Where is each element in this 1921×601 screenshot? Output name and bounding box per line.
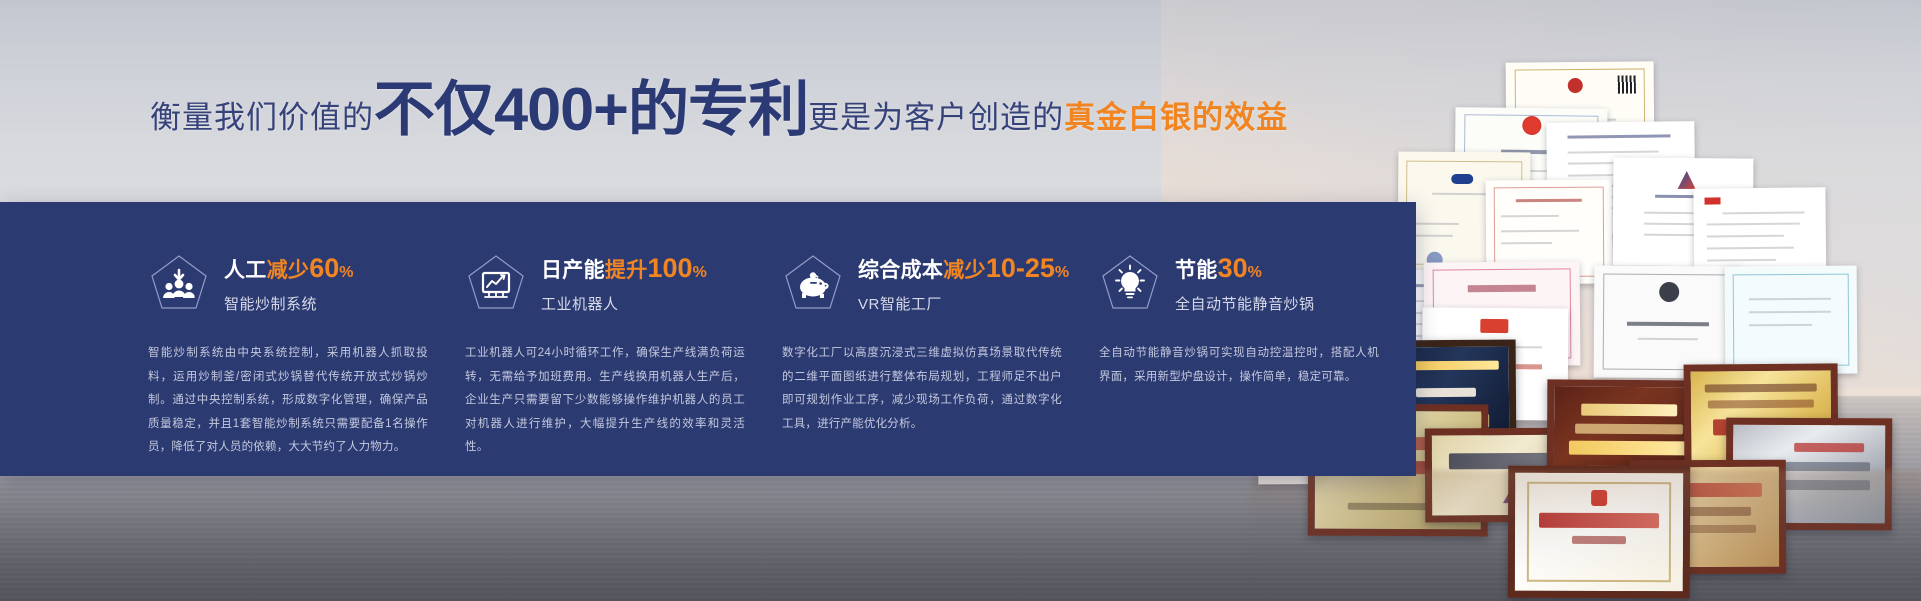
chart-monitor-icon — [465, 252, 527, 314]
feature-title-number: 100 — [648, 253, 693, 283]
feature-title: 节能30% — [1175, 252, 1315, 286]
feature-subtitle: 全自动节能静音炒锅 — [1175, 293, 1315, 314]
people-group-icon — [148, 252, 210, 314]
feature-body: 全自动节能静音炒锅可实现自动控温控时，搭配人机界面，采用新型炉盘设计，操作简单，… — [1099, 342, 1379, 389]
headline-emphasis: 不仅400+的专利 — [374, 80, 809, 140]
feature-title-unit: % — [693, 264, 708, 281]
certificate-card — [1725, 266, 1858, 375]
feature-title-number: 30 — [1218, 253, 1248, 283]
feature-title-unit: % — [339, 264, 354, 281]
feature-titles: 综合成本减少10-25% VR智能工厂 — [858, 252, 1069, 314]
features-row: 人工减少60% 智能炒制系统 智能炒制系统由中央系统控制，采用机器人抓取投料，运… — [0, 202, 1416, 476]
banner-stage: 衡量我们价值的 不仅400+的专利 更是为客户创造的 真金白银的效益 — [0, 0, 1921, 601]
feature-title-highlight: 减少 — [267, 259, 310, 282]
feature-card-cost-reduction: 综合成本减少10-25% VR智能工厂 数字化工厂以高度沉浸式三维虚拟仿真场景取… — [782, 202, 1099, 476]
feature-title-number: 60 — [309, 253, 339, 283]
feature-title-prefix: 节能 — [1175, 259, 1218, 282]
piggy-bank-icon — [782, 252, 844, 314]
feature-header: 日产能提升100% 工业机器人 — [465, 240, 782, 326]
feature-card-energy-saving: 节能30% 全自动节能静音炒锅 全自动节能静音炒锅可实现自动控温控时，搭配人机界… — [1099, 202, 1416, 476]
feature-body: 智能炒制系统由中央系统控制，采用机器人抓取投料，运用炒制釜/密闭式炒锅替代传统开… — [148, 342, 428, 460]
feature-title-highlight: 减少 — [943, 259, 986, 282]
feature-header: 综合成本减少10-25% VR智能工厂 — [782, 240, 1099, 326]
feature-subtitle: VR智能工厂 — [858, 293, 1069, 314]
feature-subtitle: 工业机器人 — [541, 293, 707, 314]
feature-subtitle: 智能炒制系统 — [224, 293, 354, 314]
feature-title-unit: % — [1248, 264, 1263, 281]
feature-title: 人工减少60% — [224, 252, 354, 286]
feature-title-number: 10-25 — [986, 253, 1055, 283]
feature-title: 日产能提升100% — [541, 252, 707, 286]
feature-title: 综合成本减少10-25% — [858, 252, 1069, 286]
certificate-card — [1594, 265, 1743, 378]
feature-card-capacity-increase: 日产能提升100% 工业机器人 工业机器人可24小时循环工作，确保生产线满负荷运… — [465, 202, 782, 476]
feature-header: 人工减少60% 智能炒制系统 — [148, 240, 465, 326]
headline-middle: 更是为客户创造的 — [808, 92, 1064, 137]
feature-titles: 人工减少60% 智能炒制系统 — [224, 252, 354, 314]
feature-title-highlight: 提升 — [605, 259, 648, 282]
feature-titles: 节能30% 全自动节能静音炒锅 — [1175, 252, 1315, 314]
lightbulb-icon — [1099, 252, 1161, 314]
features-panel: 人工减少60% 智能炒制系统 智能炒制系统由中央系统控制，采用机器人抓取投料，运… — [0, 202, 1416, 476]
feature-header: 节能30% 全自动节能静音炒锅 — [1099, 240, 1416, 326]
feature-title-prefix: 人工 — [224, 259, 267, 282]
feature-title-prefix: 日产能 — [541, 259, 605, 282]
page-title: 衡量我们价值的 不仅400+的专利 更是为客户创造的 真金白银的效益 — [150, 78, 1288, 140]
certificate-reflection — [1250, 470, 1921, 580]
feature-card-labor-reduction: 人工减少60% 智能炒制系统 智能炒制系统由中央系统控制，采用机器人抓取投料，运… — [148, 202, 465, 476]
feature-title-unit: % — [1055, 264, 1070, 281]
feature-body: 工业机器人可24小时循环工作，确保生产线满负荷运转，无需给予加班费用。生产线换用… — [465, 342, 745, 460]
headline-lead: 衡量我们价值的 — [150, 92, 374, 137]
feature-title-prefix: 综合成本 — [858, 259, 943, 282]
feature-titles: 日产能提升100% 工业机器人 — [541, 252, 707, 314]
feature-body: 数字化工厂以高度沉浸式三维虚拟仿真场景取代传统的二维平面图纸进行整体布局规划，工… — [782, 342, 1062, 436]
headline-highlight: 真金白银的效益 — [1064, 92, 1288, 137]
